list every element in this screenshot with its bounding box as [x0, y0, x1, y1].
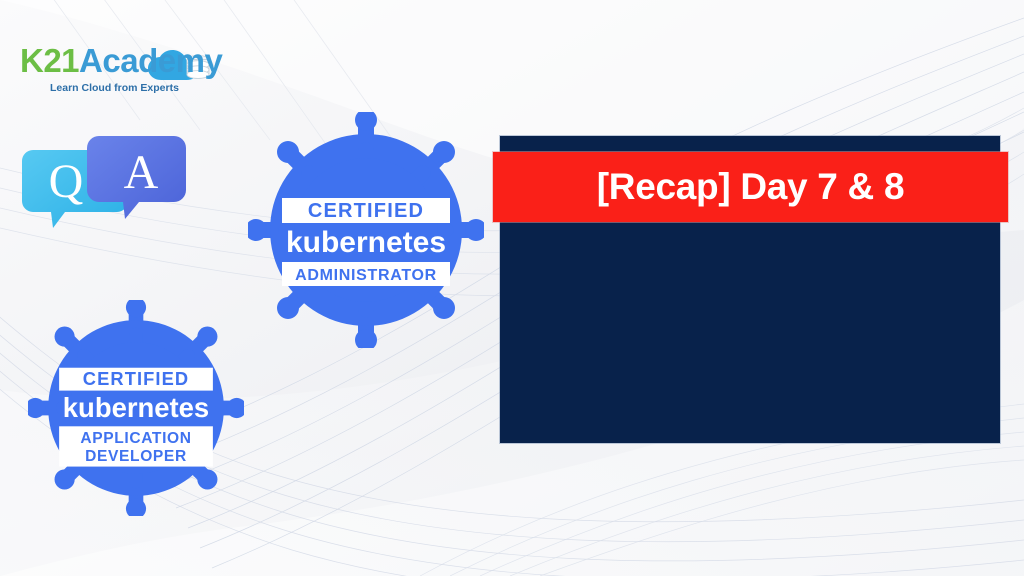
cka-label-line3: ADMINISTRATOR: [295, 267, 437, 284]
recap-banner: [Recap] Day 7 & 8: [493, 152, 1008, 222]
subtitle-line-5: Certification]: [1012, 498, 1024, 529]
ckad-label-line3: APPLICATION: [80, 430, 191, 447]
ckad-label-line4: DEVELOPER: [85, 448, 187, 465]
cka-label-line1: CERTIFIED: [308, 200, 424, 222]
certified-kubernetes-administrator-badge: CERTIFIED kubernetes ADMINISTRATOR: [248, 156, 484, 304]
logo-text-secondary: Academy: [79, 42, 222, 79]
qa-bubbles-svg: Q A: [12, 118, 202, 238]
ckad-badge-labels: CERTIFIED kubernetes APPLICATION DEVELOP…: [59, 368, 213, 467]
subtitle-line-4: Dashboard [CKA/D] [Kubernetes: [1012, 468, 1024, 499]
info-card-subtitle: K8s Services, Deployment, HPA, Cluster R…: [1000, 376, 1024, 529]
subtitle-line-2: Cluster Resource Limit,: [1012, 407, 1024, 438]
recap-banner-title: [Recap] Day 7 & 8: [597, 166, 904, 208]
ckad-badge-svg: CERTIFIED kubernetes APPLICATION DEVELOP…: [28, 300, 244, 516]
cka-badge-svg: CERTIFIED kubernetes ADMINISTRATOR: [248, 112, 484, 348]
subtitle-line-3: Daemonset Controller and: [1012, 437, 1024, 468]
certified-kubernetes-application-developer-badge: CERTIFIED kubernetes APPLICATION DEVELOP…: [28, 300, 244, 498]
answer-bubble-letter: A: [124, 146, 159, 199]
cka-badge-labels: CERTIFIED kubernetes ADMINISTRATOR: [282, 198, 450, 286]
ckad-label-line1: CERTIFIED: [83, 368, 189, 389]
logo-tagline: Learn Cloud from Experts: [50, 82, 179, 94]
cka-label-line2: kubernetes: [286, 226, 446, 259]
brand-logo[interactable]: K21Academy Learn Cloud from Experts: [20, 26, 220, 92]
slide-canvas: K21Academy Learn Cloud from Experts Q: [0, 0, 1024, 576]
question-bubble-letter: Q: [49, 155, 84, 208]
qa-bubbles-icon: Q A: [12, 118, 202, 238]
ckad-label-line2: kubernetes: [63, 392, 209, 423]
logo-wordmark: K21Academy: [20, 44, 222, 77]
subtitle-line-1: K8s Services, Deployment, HPA,: [1012, 376, 1024, 407]
logo-text-primary: K21: [20, 42, 79, 79]
